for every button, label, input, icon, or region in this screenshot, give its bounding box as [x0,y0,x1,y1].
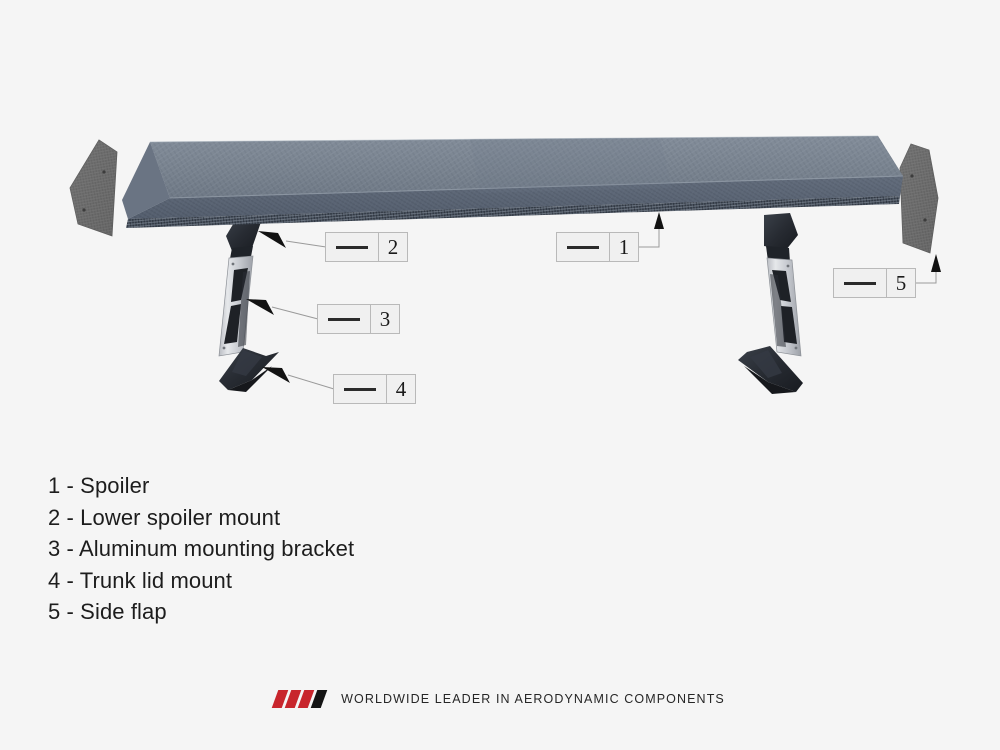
diagram-stage: 2 1 5 3 4 1 - Spoiler 2 - Lower spoiler … [0,0,1000,750]
callout-2[interactable]: 2 [325,232,408,262]
callout-number: 3 [371,305,399,333]
callout-dash-icon [328,318,360,321]
legend-item-4: 4 - Trunk lid mount [48,565,568,597]
aluminum-bracket-right [767,258,801,356]
callout-1[interactable]: 1 [556,232,639,262]
callout-dash-cell [326,233,379,261]
side-flap-left [70,140,117,236]
brand-stripes-logo-icon [275,690,327,708]
lower-spoiler-mount-right [764,213,798,250]
callout-dash-icon [344,388,376,391]
callout-dash-icon [844,282,876,285]
arrowhead-4 [262,367,290,383]
leader-line-4 [288,375,334,389]
footer-banner: WORLDWIDE LEADER IN AERODYNAMIC COMPONEN… [0,690,1000,708]
callout-number: 4 [387,375,415,403]
logo-stripe-4 [311,690,328,708]
legend-item-3: 3 - Aluminum mounting bracket [48,533,568,565]
parts-legend: 1 - Spoiler 2 - Lower spoiler mount 3 - … [48,470,568,628]
callout-dash-icon [336,246,368,249]
callout-5[interactable]: 5 [833,268,916,298]
arrowhead-5 [931,254,941,272]
arrowhead-1 [654,212,664,229]
callout-dash-cell [318,305,371,333]
callout-4[interactable]: 4 [333,374,416,404]
legend-item-5: 5 - Side flap [48,596,568,628]
callout-dash-icon [567,246,599,249]
callout-dash-cell [834,269,887,297]
legend-item-2: 2 - Lower spoiler mount [48,502,568,534]
footer-tagline: WORLDWIDE LEADER IN AERODYNAMIC COMPONEN… [341,692,725,706]
leader-line-2 [286,241,326,247]
arrowhead-2 [258,231,286,248]
callout-3[interactable]: 3 [317,304,400,334]
arrowhead-3 [246,299,274,315]
legend-item-1: 1 - Spoiler [48,470,568,502]
leader-line-3 [272,307,318,319]
strut-assembly-left [219,216,279,392]
product-illustration [0,0,1000,750]
callout-number: 2 [379,233,407,261]
callout-number: 1 [610,233,638,261]
strut-assembly-right [738,213,803,394]
callout-dash-cell [334,375,387,403]
callout-dash-cell [557,233,610,261]
callout-number: 5 [887,269,915,297]
aluminum-bracket-left [219,256,253,356]
side-flap-right [900,144,938,253]
